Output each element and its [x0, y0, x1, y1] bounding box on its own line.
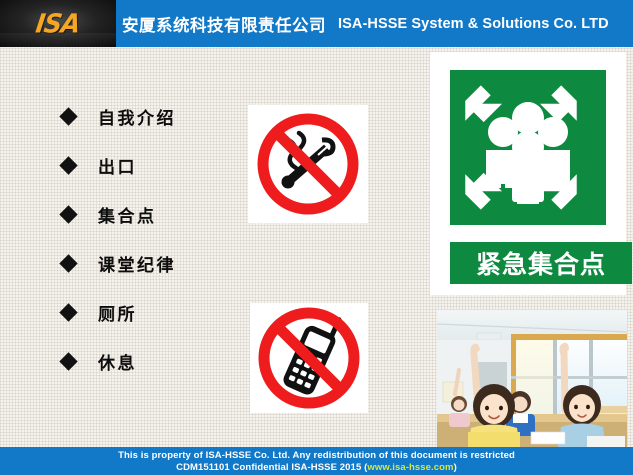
diamond-bullet-icon	[59, 156, 77, 174]
footer-doc-id: CDM151101 Confidential ISA-HSSE 2015 (	[176, 462, 367, 473]
list-item: 课堂纪律	[62, 239, 252, 288]
no-mobile-phone-icon	[250, 303, 368, 413]
agenda-item-label: 集合点	[98, 202, 157, 227]
list-item: 休息	[62, 337, 252, 386]
presentation-slide: ISA 安厦系统科技有限责任公司 ISA-HSSE System & Solut…	[0, 0, 633, 475]
no-smoking-icon	[248, 105, 368, 223]
slide-header-bar: ISA 安厦系统科技有限责任公司 ISA-HSSE System & Solut…	[0, 0, 633, 47]
agenda-item-label: 出口	[98, 153, 137, 178]
diamond-bullet-icon	[59, 254, 77, 272]
assembly-point-label-text: 紧急集合点	[476, 245, 606, 281]
footer-copyright-line: This is property of ISA-HSSE Co. Ltd. An…	[0, 450, 633, 462]
no-smoking-sign	[248, 105, 368, 223]
agenda-item-label: 休息	[98, 349, 137, 374]
footer-paren-close: )	[454, 462, 457, 473]
people-converging-arrows-icon	[450, 70, 606, 225]
company-logo-panel: ISA	[0, 0, 116, 47]
no-mobile-phone-sign	[250, 303, 368, 413]
diamond-bullet-icon	[59, 205, 77, 223]
diamond-bullet-icon	[59, 107, 77, 125]
assembly-point-pictogram	[450, 70, 606, 225]
isa-logo-text: ISA	[34, 8, 82, 38]
footer-website-link[interactable]: www.isa-hsse.com	[367, 462, 453, 473]
agenda-list: 自我介绍 出口 集合点 课堂纪律 厕所 休息	[62, 92, 252, 386]
list-item: 自我介绍	[62, 92, 252, 141]
agenda-item-label: 自我介绍	[98, 104, 176, 129]
list-item: 集合点	[62, 190, 252, 239]
agenda-item-label: 厕所	[98, 300, 137, 325]
classroom-students-raising-hands-photo	[437, 310, 627, 447]
list-item: 厕所	[62, 288, 252, 337]
header-title-english: ISA-HSSE System & Solutions Co. LTD	[338, 16, 609, 32]
header-title-chinese: 安厦系统科技有限责任公司	[122, 12, 326, 36]
assembly-point-label-bar: 紧急集合点	[450, 242, 632, 284]
diamond-bullet-icon	[59, 303, 77, 321]
footer-document-line: CDM151101 Confidential ISA-HSSE 2015 (ww…	[0, 462, 633, 474]
emergency-assembly-point-sign: 紧急集合点	[430, 52, 626, 295]
classroom-photo-illustration	[437, 310, 627, 447]
list-item: 出口	[62, 141, 252, 190]
agenda-item-label: 课堂纪律	[98, 251, 176, 276]
slide-footer-bar: This is property of ISA-HSSE Co. Ltd. An…	[0, 447, 633, 475]
diamond-bullet-icon	[59, 352, 77, 370]
header-title: 安厦系统科技有限责任公司 ISA-HSSE System & Solutions…	[122, 0, 609, 47]
